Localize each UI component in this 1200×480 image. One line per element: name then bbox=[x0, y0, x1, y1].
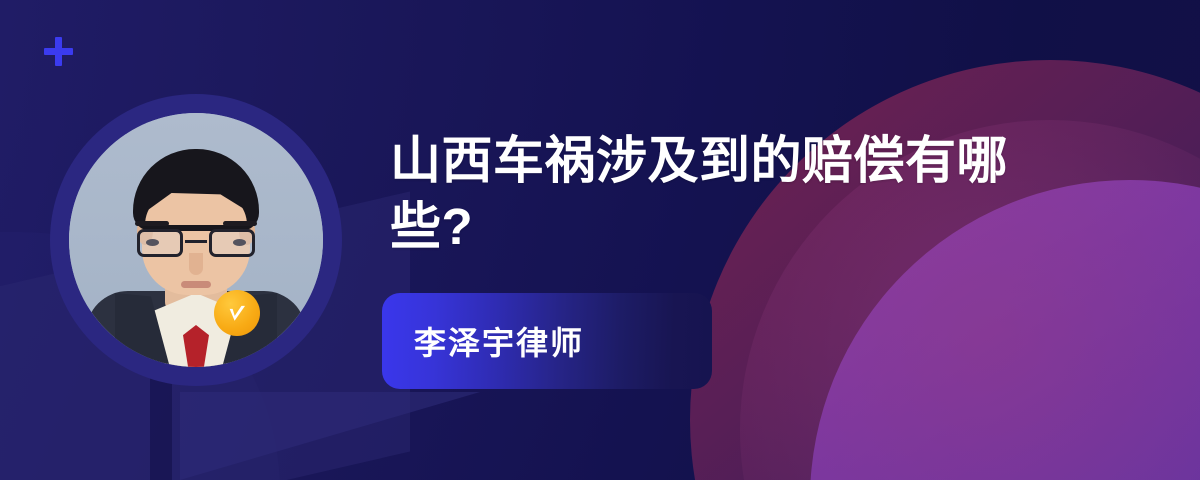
verified-badge-icon bbox=[214, 290, 260, 336]
avatar[interactable] bbox=[50, 94, 342, 386]
author-name-button[interactable]: 李泽宇律师 bbox=[382, 293, 712, 389]
plus-icon bbox=[44, 37, 73, 66]
portrait-lens-left bbox=[137, 229, 183, 257]
portrait-glasses-bridge bbox=[185, 240, 207, 243]
portrait-mouth bbox=[181, 281, 211, 288]
content-column: 山西车祸涉及到的赔偿有哪些? 李泽宇律师 bbox=[390, 128, 1090, 260]
portrait-eyebrow-left bbox=[135, 221, 169, 226]
avatar-photo bbox=[69, 113, 323, 367]
lawyer-qa-banner: 山西车祸涉及到的赔偿有哪些? 李泽宇律师 bbox=[0, 0, 1200, 480]
portrait-nose bbox=[189, 253, 203, 275]
portrait-lens-right bbox=[209, 229, 255, 257]
portrait-eyebrow-right bbox=[223, 221, 257, 226]
decor-triangle-bottom bbox=[180, 392, 480, 480]
page-title: 山西车祸涉及到的赔偿有哪些? bbox=[390, 128, 1055, 260]
